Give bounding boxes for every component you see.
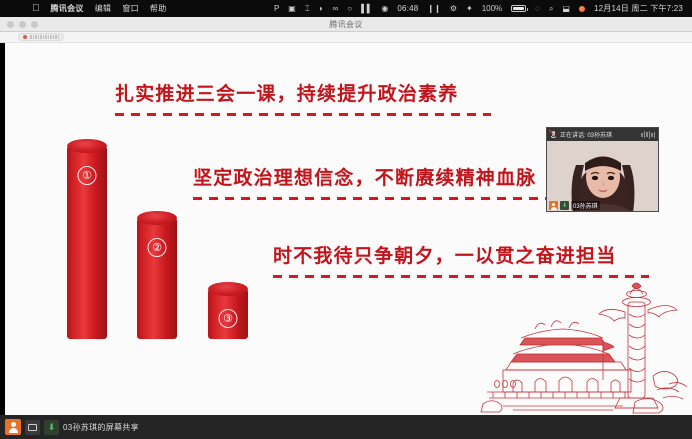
speaker-video-tile[interactable]: 正在讲话: 03孙苏琪 — [546, 127, 659, 212]
screen-share-icon[interactable] — [25, 420, 40, 435]
heading-one: 扎实推进三会一课，持续提升政治素养 — [115, 79, 491, 116]
share-bar-label: 03孙苏琪的屏幕共享 — [63, 422, 139, 433]
menubar-datetime[interactable]: 12月14日 周二 下午7:23 — [594, 3, 683, 14]
pause-icon[interactable]: ❙❙ — [427, 5, 440, 13]
person-badge-icon — [549, 201, 558, 210]
screen-share-icon[interactable]: ▣ — [288, 5, 296, 13]
pillar-one-cap — [67, 139, 107, 153]
heading-three-underline — [273, 275, 649, 278]
waveform-icon — [30, 35, 59, 39]
heading-two-underline — [193, 197, 569, 200]
meeting-timer-value: 06:48 — [397, 4, 418, 13]
pillar-two-number: ② — [148, 238, 167, 257]
pillar-three-cap — [208, 282, 248, 296]
battery-percent-label: 100% — [482, 5, 502, 13]
pillar-two-cap — [137, 211, 177, 225]
window-title-bar: 腾讯会议 — [0, 17, 692, 32]
pillar-two: ② — [137, 218, 177, 339]
heading-two: 坚定政治理想信念，不断赓续精神血脉 — [193, 163, 569, 200]
menu-item-edit[interactable]: 编辑 — [95, 3, 112, 14]
search-icon[interactable]: ⌕ — [549, 5, 553, 13]
video-tile-footer: ⬇ 03孙苏琪 — [547, 200, 658, 211]
pillar-one: ① — [67, 146, 107, 339]
menu-bar-left-group:  腾讯会议 编辑 窗口 帮助 — [4, 3, 167, 14]
menu-bar-status-group: P ▣ ⌶ ◗ ∞ ○ ▌▌ ◉ 06:48 ❙❙ ⚙ ✦ 100% ◌ ⌕ ⬓… — [274, 3, 688, 14]
recording-strip — [0, 32, 692, 43]
timer-icon[interactable]: ◉ — [381, 5, 388, 13]
screen-share-bar: ⬇ 03孙苏琪的屏幕共享 — [0, 415, 692, 439]
shared-screen-stage: ① ② ③ 扎实推进三会一课，持续提升政治素养 坚定政治理想信念，不断赓续精神血… — [0, 43, 692, 415]
apple-icon[interactable]:  — [32, 4, 40, 14]
participant-name: 03孙苏琪 — [571, 201, 600, 210]
siri-icon[interactable] — [579, 6, 585, 12]
audio-wave-icon — [641, 131, 655, 139]
macos-menu-bar:  腾讯会议 编辑 窗口 帮助 P ▣ ⌶ ◗ ∞ ○ ▌▌ ◉ 06:48 ❙… — [0, 0, 692, 17]
bluetooth-icon[interactable]: ✦ — [466, 5, 473, 13]
recording-pill[interactable] — [18, 33, 64, 41]
pillar-one-number: ① — [78, 166, 97, 185]
person-badge-icon[interactable] — [5, 419, 21, 435]
control-center-icon[interactable]: ⬓ — [562, 5, 570, 13]
download-badge-icon: ⬇ — [560, 201, 569, 210]
mic-muted-icon[interactable] — [550, 130, 557, 139]
record-dot-icon — [23, 35, 27, 39]
menu-item-app[interactable]: 腾讯会议 — [51, 3, 84, 14]
gear-icon[interactable]: ⚙ — [450, 5, 457, 13]
heading-three: 时不我待只争朝夕，一以贯之奋进担当 — [273, 241, 649, 278]
clock-icon[interactable]: ○ — [347, 5, 352, 13]
menu-item-help[interactable]: 帮助 — [150, 3, 167, 14]
battery-icon[interactable] — [511, 5, 526, 12]
heading-two-text: 坚定政治理想信念，不断赓续精神血脉 — [193, 163, 569, 190]
link-icon[interactable]: ∞ — [333, 5, 339, 13]
heading-one-text: 扎实推进三会一课，持续提升政治素养 — [115, 79, 491, 106]
input-source-icon[interactable]: ⌶ — [305, 5, 310, 13]
menu-item-window[interactable]: 窗口 — [122, 3, 139, 14]
dropbox-icon[interactable]: ◗ — [319, 5, 324, 13]
heading-three-text: 时不我待只争朝夕，一以贯之奋进担当 — [273, 241, 649, 268]
pages-icon[interactable]: P — [274, 5, 279, 13]
pillar-two-body — [137, 218, 177, 339]
speaking-label: 正在讲话: 03孙苏琪 — [560, 130, 638, 139]
tiananmen-huabiao-icon — [477, 280, 692, 415]
window-title: 腾讯会议 — [0, 19, 692, 30]
download-badge-icon[interactable]: ⬇ — [44, 420, 59, 435]
wifi-icon[interactable]: ◌ — [535, 5, 540, 13]
pillar-three-number: ③ — [219, 309, 238, 328]
video-tile-header: 正在讲话: 03孙苏琪 — [547, 128, 658, 141]
presentation-slide: ① ② ③ 扎实推进三会一课，持续提升政治素养 坚定政治理想信念，不断赓续精神血… — [5, 43, 692, 415]
heading-one-underline — [115, 113, 491, 116]
stage-left-rail — [0, 86, 5, 439]
pillar-three: ③ — [208, 289, 248, 339]
stats-icon[interactable]: ▌▌ — [361, 5, 372, 13]
